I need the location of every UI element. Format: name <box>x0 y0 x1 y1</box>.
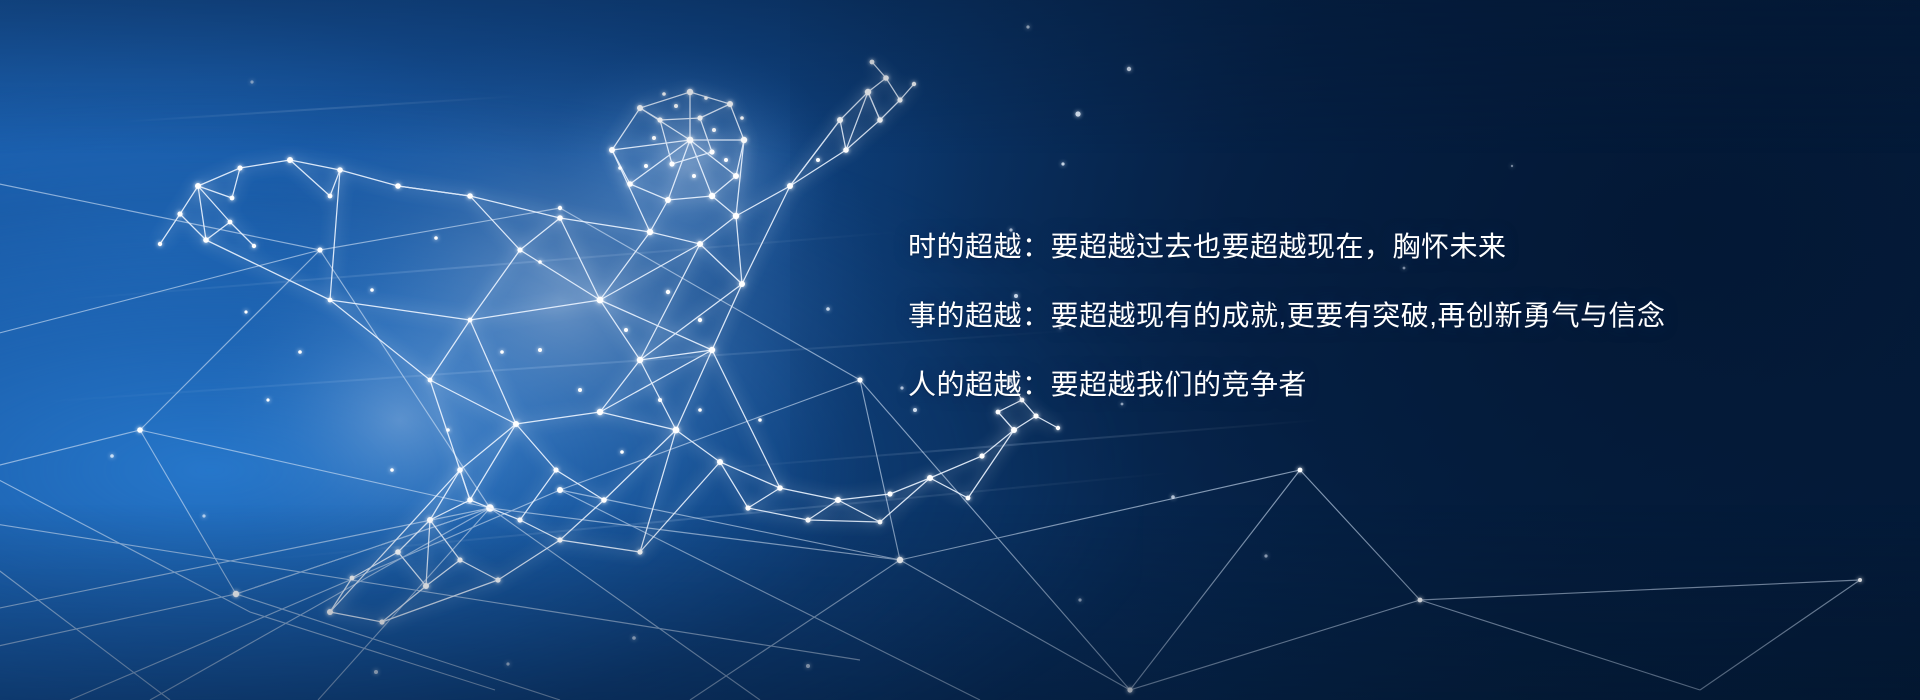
slogan-line-matter: 事的超越：要超越现有的成就,更要有突破,再创新勇气与信念 <box>908 299 1828 332</box>
slogan-text-block: 时的超越：要超越过去也要超越现在，胸怀未来 事的超越：要超越现有的成就,更要有突… <box>908 230 1828 401</box>
slogan-line-people: 人的超越：要超越我们的竞争者 <box>908 368 1828 401</box>
slogan-line-time: 时的超越：要超越过去也要超越现在，胸怀未来 <box>908 230 1828 263</box>
hero-banner: 时的超越：要超越过去也要超越现在，胸怀未来 事的超越：要超越现有的成就,更要有突… <box>0 0 1920 700</box>
